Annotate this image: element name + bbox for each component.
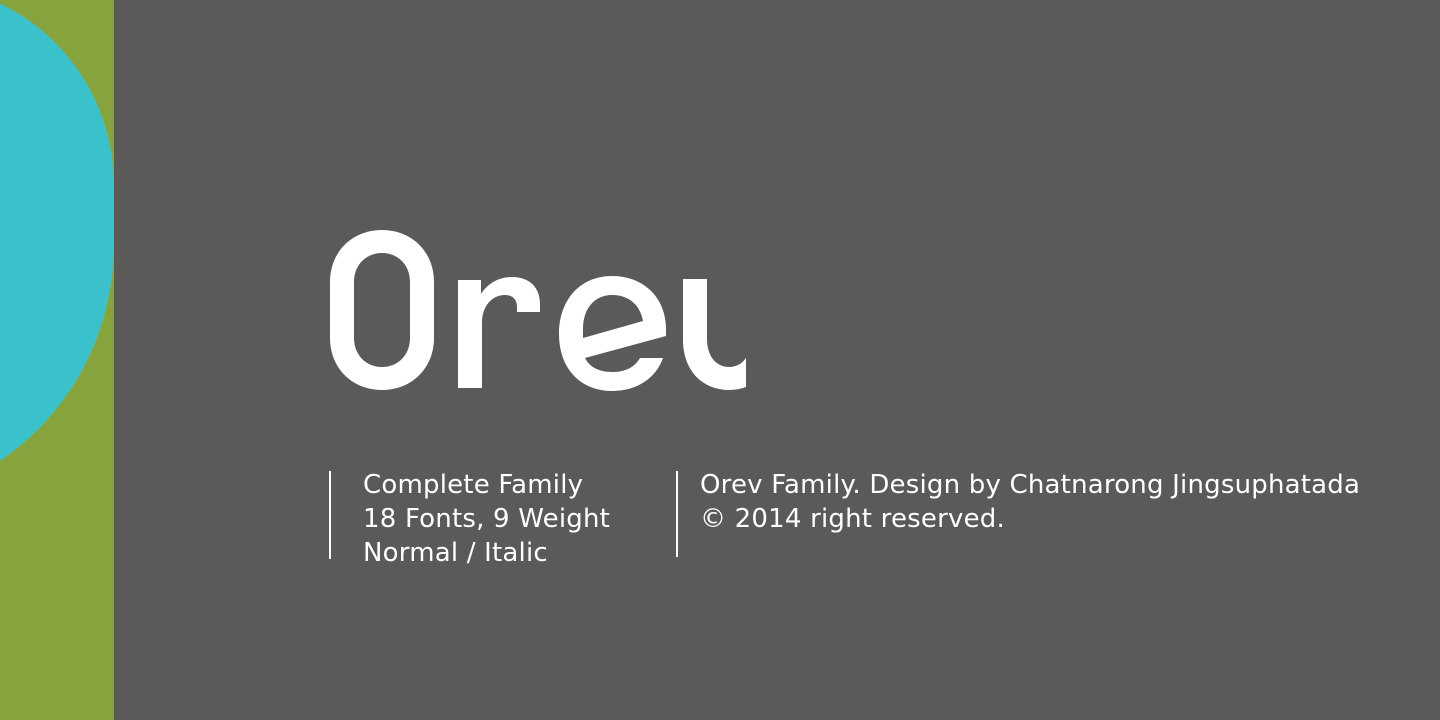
credits-block: Orev Family. Design by Chatnarong Jingsu… (676, 471, 1360, 557)
left-color-band (0, 0, 114, 720)
glyph-O (330, 230, 434, 390)
credits-lines: Orev Family. Design by Chatnarong Jingsu… (678, 468, 1360, 557)
credits-line-1: Orev Family. Design by Chatnarong Jingsu… (700, 468, 1360, 502)
font-specimen-poster: Complete Family 18 Fonts, 9 Weight Norma… (0, 0, 1440, 720)
specs-block: Complete Family 18 Fonts, 9 Weight Norma… (329, 471, 610, 559)
glyph-v (683, 279, 746, 390)
wordmark-orev (326, 208, 746, 408)
wordmark-glyphs (326, 208, 746, 408)
specs-line-1: Complete Family (363, 468, 610, 502)
glyph-e (559, 276, 666, 391)
credits-line-2: © 2014 right reserved. (700, 502, 1360, 536)
glyph-r (458, 277, 540, 388)
specs-line-3: Normal / Italic (363, 536, 610, 570)
specs-lines: Complete Family 18 Fonts, 9 Weight Norma… (331, 468, 610, 559)
specs-line-2: 18 Fonts, 9 Weight (363, 502, 610, 536)
